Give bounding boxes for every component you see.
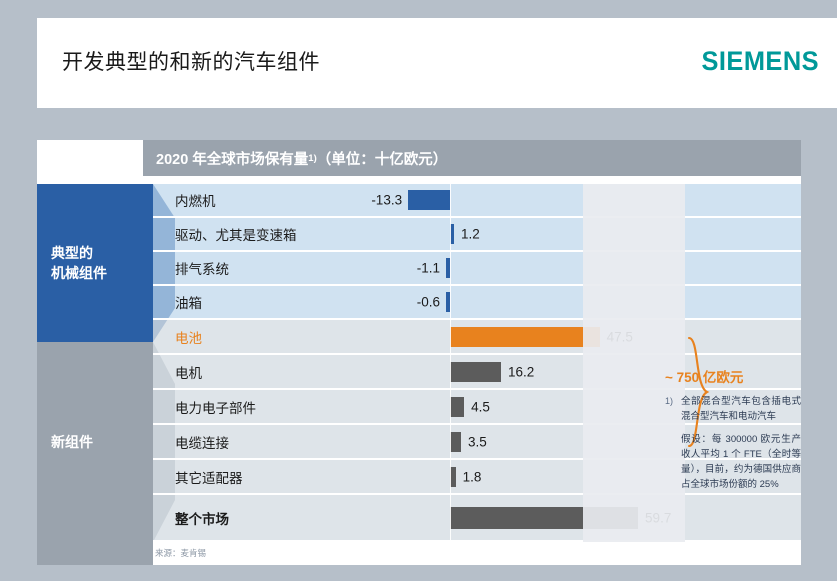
chart-header-bar: 2020 年全球市场保有量 1)（单位：十亿欧元） bbox=[143, 140, 801, 176]
bracket-label: ~ 750 亿欧元 bbox=[665, 366, 801, 386]
chart-card: 2020 年全球市场保有量 1)（单位：十亿欧元） 典型的 bbox=[37, 140, 801, 565]
footnote-1: 1) 全部混合型汽车包含插电式混合型汽车和电动汽车 bbox=[665, 395, 801, 424]
chart-header-unit: （单位：十亿欧元） bbox=[317, 148, 448, 169]
footnote-text: 全部混合型汽车包含插电式混合型汽车和电动汽车 bbox=[681, 395, 801, 424]
bar-value-8: 1.8 bbox=[463, 469, 482, 484]
bar-value-7: 3.5 bbox=[468, 434, 487, 449]
bar-4 bbox=[450, 327, 600, 347]
bar-value-0: -13.3 bbox=[370, 193, 402, 208]
bar-7 bbox=[450, 432, 461, 452]
row-label-1: 驱动、尤其是变速箱 bbox=[175, 224, 297, 244]
table-row[interactable]: 整个市场59.7 bbox=[153, 495, 801, 542]
row-background bbox=[153, 252, 801, 284]
table-row[interactable]: 驱动、尤其是变速箱1.2 bbox=[153, 218, 801, 252]
footnote-number: 1) bbox=[665, 395, 681, 424]
bar-6 bbox=[450, 397, 464, 417]
row-label-8: 其它适配器 bbox=[175, 467, 243, 487]
row-label-6: 电力电子部件 bbox=[175, 397, 256, 417]
row-label-9: 整个市场 bbox=[175, 508, 229, 528]
assumption-text: 假设：每 300000 欧元生产收人平均 1 个 FTE（全时等量），目前，约为… bbox=[681, 433, 801, 492]
title-band: 开发典型的和新的汽车组件 SIEMENS bbox=[37, 18, 837, 108]
bar-value-1: 1.2 bbox=[461, 227, 480, 242]
bar-value-4: 47.5 bbox=[607, 329, 633, 344]
group-label-classic-line2: 机械组件 bbox=[51, 263, 107, 283]
row-label-3: 油箱 bbox=[175, 292, 202, 312]
page-title: 开发典型的和新的汽车组件 bbox=[62, 46, 320, 76]
source-label: 来源：麦肯锡 bbox=[155, 547, 206, 559]
row-label-2: 排气系统 bbox=[175, 258, 229, 278]
group-label-new-line1: 新组件 bbox=[51, 432, 93, 452]
table-row[interactable]: 排气系统-1.1 bbox=[153, 252, 801, 286]
group-label-classic-line1: 典型的 bbox=[51, 243, 107, 263]
bar-0 bbox=[408, 190, 450, 210]
source-strip bbox=[37, 542, 153, 565]
siemens-logo: SIEMENS bbox=[701, 46, 819, 77]
row-label-5: 电机 bbox=[175, 362, 202, 382]
group-tab-new: 新组件 bbox=[37, 342, 153, 542]
bar-value-3: -0.6 bbox=[408, 295, 440, 310]
footnote-marker-sup: 1) bbox=[308, 153, 316, 164]
table-row[interactable]: 内燃机-13.3 bbox=[153, 184, 801, 218]
row-background bbox=[153, 184, 801, 216]
row-label-7: 电缆连接 bbox=[175, 432, 229, 452]
table-row[interactable]: 油箱-0.6 bbox=[153, 286, 801, 320]
row-label-4: 电池 bbox=[175, 327, 202, 347]
row-background bbox=[153, 286, 801, 318]
bar-value-5: 16.2 bbox=[508, 364, 534, 379]
bar-value-2: -1.1 bbox=[408, 261, 440, 276]
group-tab-classic: 典型的 机械组件 bbox=[37, 184, 153, 342]
bar-5 bbox=[450, 362, 501, 382]
zero-axis-line bbox=[450, 184, 451, 542]
bar-value-6: 4.5 bbox=[471, 399, 490, 414]
annotation-panel: ~ 750 亿欧元 1) 全部混合型汽车包含插电式混合型汽车和电动汽车 假设：每… bbox=[665, 366, 801, 492]
plot-area: 典型的 机械组件 新组件 内燃机-13.3驱动、尤其是变速箱1.2排气系统-1.… bbox=[37, 184, 801, 542]
chart-header-text: 2020 年全球市场保有量 bbox=[156, 148, 308, 169]
bar-9 bbox=[450, 507, 638, 529]
bar-value-9: 59.7 bbox=[645, 510, 671, 525]
row-label-0: 内燃机 bbox=[175, 190, 216, 210]
